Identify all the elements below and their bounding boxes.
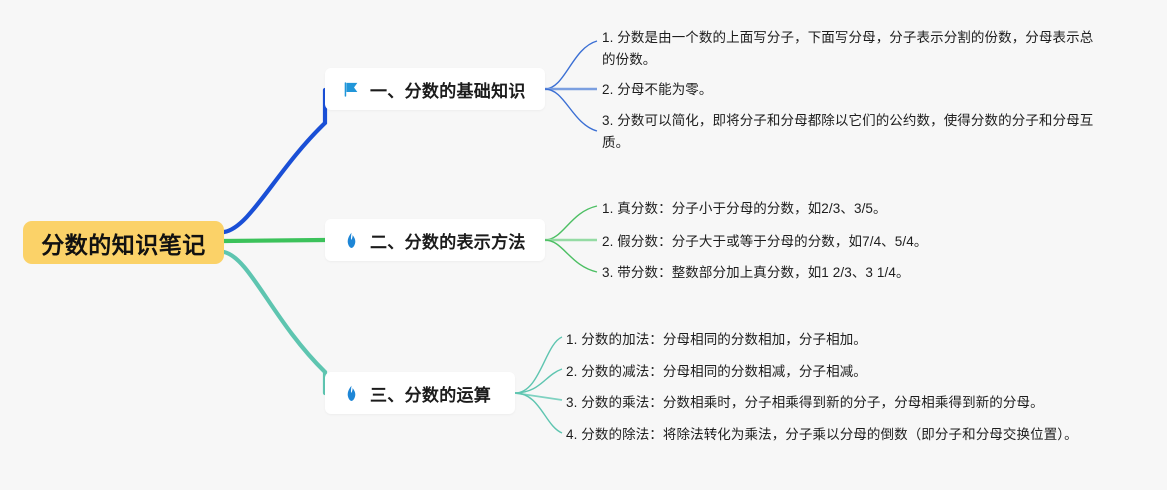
mindmap-canvas[interactable]: 分数的知识笔记 一、分数的基础知识 二、分数的表示方法 三、分数的运算 xyxy=(0,0,1167,490)
leaf-node[interactable]: 1. 分数的加法：分母相同的分数相加，分子相加。 xyxy=(566,329,1096,351)
leaf-node-text: 4. 分数的除法：将除法转化为乘法，分子乘以分母的倒数（即分子和分母交换位置）。 xyxy=(566,424,1096,446)
leaf-node[interactable]: 1. 分数是由一个数的上面写分子，下面写分母，分子表示分割的份数，分母表示总的份… xyxy=(602,27,1102,71)
blue-flame-icon xyxy=(341,230,361,250)
connector-root-to-branch-2 xyxy=(224,240,325,241)
leaf-node[interactable]: 2. 分母不能为零。 xyxy=(602,79,1102,101)
leaf-node[interactable]: 2. 假分数：分子大于或等于分母的分数，如7/4、5/4。 xyxy=(602,231,1062,253)
connector-branch-3-leaf-2 xyxy=(515,369,562,393)
leaf-node[interactable]: 1. 真分数：分子小于分母的分数，如2/3、3/5。 xyxy=(602,198,1062,220)
root-node-label: 分数的知识笔记 xyxy=(41,226,206,260)
branch-node-3-label: 三、分数的运算 xyxy=(370,381,491,406)
leaf-node-text: 2. 分数的减法：分母相同的分数相减，分子相减。 xyxy=(566,361,1096,383)
branch-node-1-label: 一、分数的基础知识 xyxy=(370,77,526,102)
leaf-node[interactable]: 3. 分数可以简化，即将分子和分母都除以它们的公约数，使得分数的分子和分母互质。 xyxy=(602,110,1102,154)
leaf-node-text: 1. 分数的加法：分母相同的分数相加，分子相加。 xyxy=(566,329,1096,351)
connector-branch-2-leaf-1 xyxy=(545,206,597,240)
leaf-node[interactable]: 3. 带分数：整数部分加上真分数，如1 2/3、3 1/4。 xyxy=(602,262,1062,284)
leaf-node-text: 2. 分母不能为零。 xyxy=(602,79,1102,101)
blue-flag-icon xyxy=(341,79,361,99)
connector-branch-3-leaf-1 xyxy=(515,337,562,393)
connector-root-to-branch-1 xyxy=(224,90,325,232)
leaf-node-text: 3. 分数的乘法：分数相乘时，分子相乘得到新的分子，分母相乘得到新的分母。 xyxy=(566,392,1096,414)
branch-node-3[interactable]: 三、分数的运算 xyxy=(325,372,515,414)
connector-branch-3-leaf-3 xyxy=(515,393,562,400)
connector-branch-1-leaf-3 xyxy=(545,89,597,131)
connector-branch-3-leaf-4 xyxy=(515,393,562,433)
connector-branch-1-leaf-1 xyxy=(545,41,597,89)
leaf-node[interactable]: 4. 分数的除法：将除法转化为乘法，分子乘以分母的倒数（即分子和分母交换位置）。 xyxy=(566,424,1096,446)
connector-root-to-branch-3 xyxy=(224,252,325,393)
leaf-node-text: 1. 真分数：分子小于分母的分数，如2/3、3/5。 xyxy=(602,198,1062,220)
leaf-node[interactable]: 3. 分数的乘法：分数相乘时，分子相乘得到新的分子，分母相乘得到新的分母。 xyxy=(566,392,1096,414)
leaf-node[interactable]: 2. 分数的减法：分母相同的分数相减，分子相减。 xyxy=(566,361,1096,383)
connector-branch-2-leaf-3 xyxy=(545,240,597,272)
branch-node-1[interactable]: 一、分数的基础知识 xyxy=(325,68,545,110)
branch-node-2[interactable]: 二、分数的表示方法 xyxy=(325,219,545,261)
blue-flame-icon xyxy=(341,383,361,403)
branch-node-2-label: 二、分数的表示方法 xyxy=(370,228,526,253)
leaf-node-text: 1. 分数是由一个数的上面写分子，下面写分母，分子表示分割的份数，分母表示总的份… xyxy=(602,27,1102,71)
leaf-node-text: 3. 带分数：整数部分加上真分数，如1 2/3、3 1/4。 xyxy=(602,262,1062,284)
root-node[interactable]: 分数的知识笔记 xyxy=(23,221,224,264)
leaf-node-text: 3. 分数可以简化，即将分子和分母都除以它们的公约数，使得分数的分子和分母互质。 xyxy=(602,110,1102,154)
leaf-node-text: 2. 假分数：分子大于或等于分母的分数，如7/4、5/4。 xyxy=(602,231,1062,253)
